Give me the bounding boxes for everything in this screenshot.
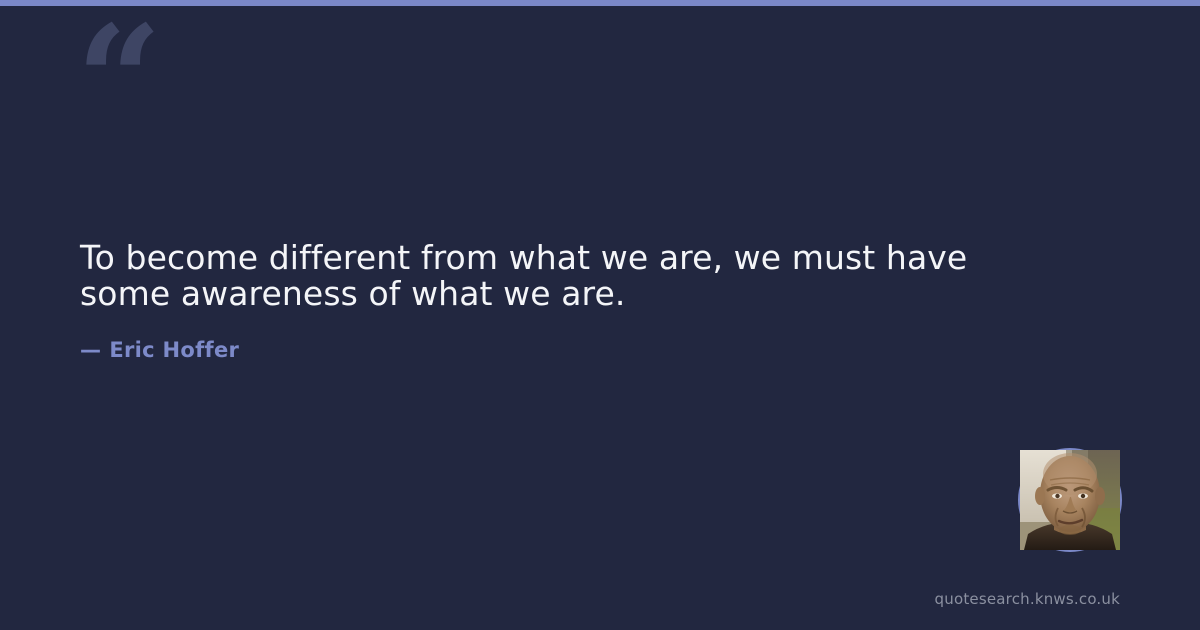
author-portrait-photo <box>1020 450 1120 550</box>
quote-line-2: some awareness of what we are. <box>80 276 980 312</box>
author-name: Eric Hoffer <box>109 338 239 362</box>
quote-author: —Eric Hoffer <box>80 312 980 362</box>
source-url: quotesearch.knws.co.uk <box>935 590 1120 608</box>
open-quote-icon: “ <box>76 6 196 116</box>
avatar <box>1018 448 1122 552</box>
quote-card: “ To become different from what we are, … <box>0 0 1200 630</box>
quote-line-1: To become different from what we are, we… <box>80 240 980 276</box>
quote-body: To become different from what we are, we… <box>80 240 980 362</box>
em-dash: — <box>80 338 101 362</box>
quote-text: To become different from what we are, we… <box>80 240 980 312</box>
